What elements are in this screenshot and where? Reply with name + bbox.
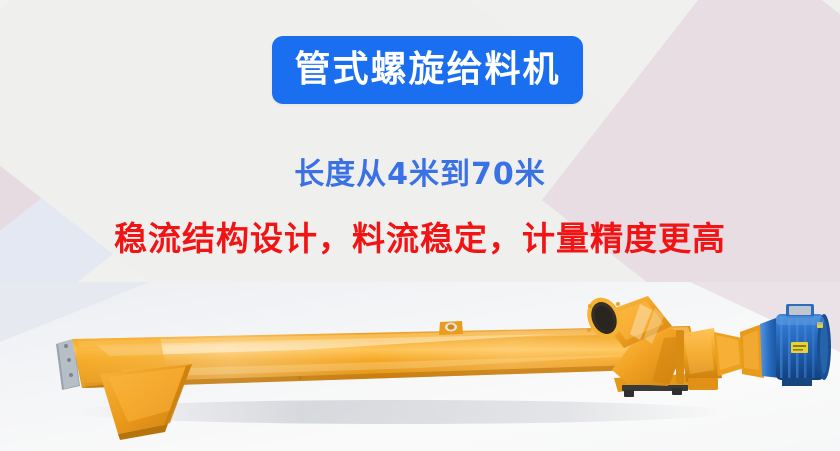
electric-motor: [760, 304, 831, 386]
banner-canvas: 管式螺旋给料机 长度从4米到70米 稳流结构设计，料流稳定，计量精度更高: [0, 0, 840, 451]
lifting-lug: [439, 321, 463, 335]
tagline-feature: 稳流结构设计，料流稳定，计量精度更高: [0, 222, 840, 255]
gearbox: [676, 324, 764, 390]
tagline-length-range: 长度从4米到70米: [0, 160, 840, 190]
motor-nameplate: [791, 342, 808, 353]
product-title-text: 管式螺旋给料机: [294, 52, 560, 88]
tube-screw-feeder-photo: [0, 282, 840, 451]
inlet-hopper: [100, 364, 192, 440]
product-title-badge: 管式螺旋给料机: [272, 36, 583, 104]
